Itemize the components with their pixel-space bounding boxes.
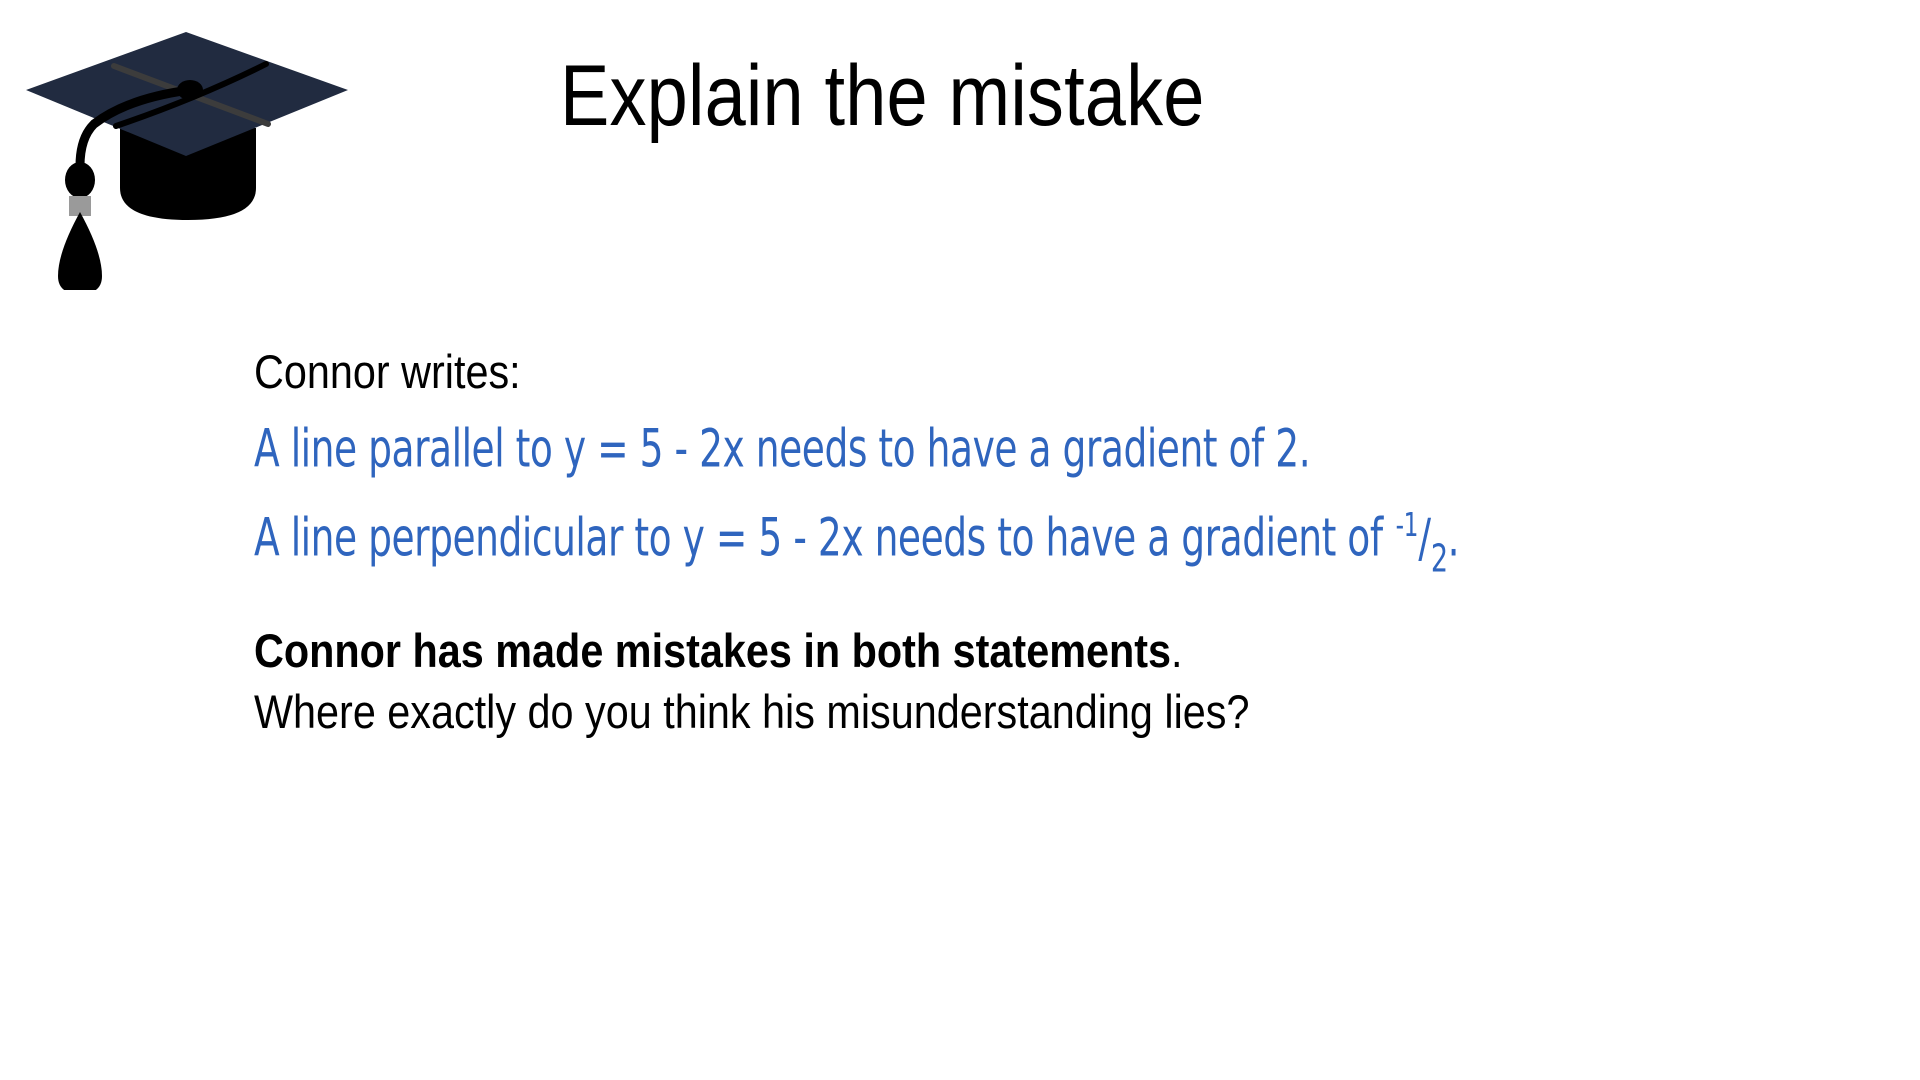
spacer <box>254 567 1814 627</box>
fraction-bar: / <box>1418 507 1431 569</box>
statement-2-text: A line perpendicular to y = 5 - 2x needs… <box>254 507 1394 569</box>
verdict-bold-text: Connor has made mistakes in both stateme… <box>254 624 1171 677</box>
verdict-line: Connor has made mistakes in both stateme… <box>254 627 1627 674</box>
tassel-bead <box>65 162 95 198</box>
page-title: Explain the mistake <box>560 48 1205 144</box>
graduation-cap-icon <box>18 20 358 290</box>
cap-button <box>177 80 203 100</box>
student-statement-1: A line parallel to y = 5 - 2x needs to h… <box>254 423 1502 476</box>
intro-line: Connor writes: <box>254 348 1627 395</box>
tassel-body <box>58 212 102 290</box>
body-content: Connor writes: A line parallel to y = 5 … <box>254 348 1814 735</box>
verdict-tail-text: . <box>1171 624 1182 677</box>
question-line: Where exactly do you think his misunders… <box>254 688 1627 735</box>
statement-2-suffix: . <box>1448 507 1459 569</box>
fraction-denominator: 2 <box>1431 537 1448 581</box>
student-statement-2: A line perpendicular to y = 5 - 2x needs… <box>254 510 1502 574</box>
fraction-negative-one-half: -1/2 <box>1396 510 1448 574</box>
statement-1-text: A line parallel to y = 5 - 2x needs to h… <box>254 419 1310 481</box>
fraction-numerator: -1 <box>1396 505 1418 543</box>
slide-canvas: Explain the mistake Connor writes: A lin… <box>0 0 1920 1080</box>
